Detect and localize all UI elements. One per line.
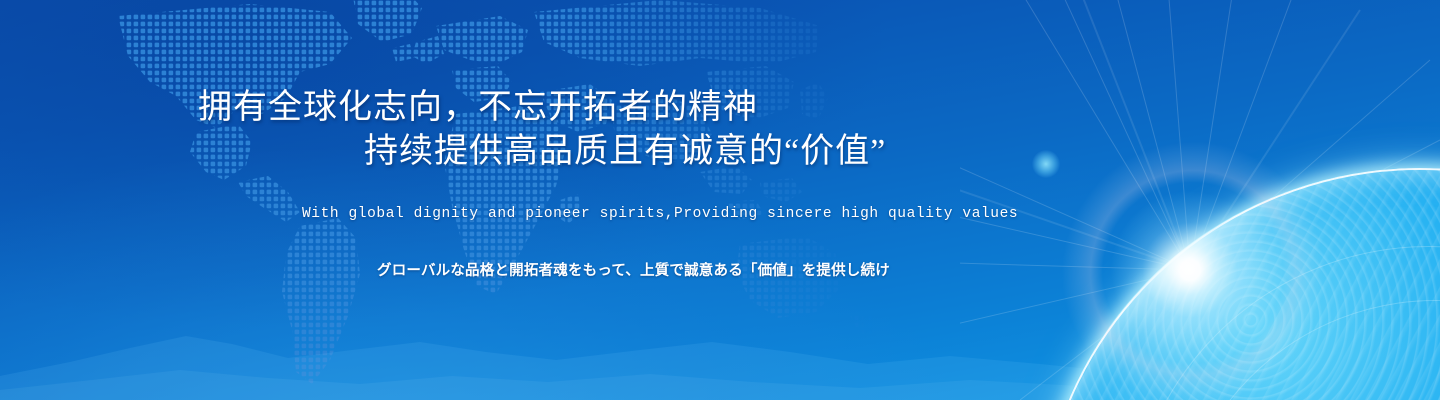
- hero-banner: 拥有全球化志向，不忘开拓者的精神 持续提供高品质且有诚意的“价值” With g…: [0, 0, 1440, 400]
- headline-line-1: 拥有全球化志向，不忘开拓者的精神: [198, 89, 758, 126]
- headline-line-2: 持续提供高品质且有诚意的“价值”: [198, 130, 958, 174]
- subtitle-english: With global dignity and pioneer spirits,…: [302, 206, 1018, 222]
- headline: 拥有全球化志向，不忘开拓者的精神 持续提供高品质且有诚意的“价值”: [198, 86, 958, 174]
- banner-copy: 拥有全球化志向，不忘开拓者的精神 持续提供高品质且有诚意的“价值” With g…: [0, 0, 1440, 400]
- subtitle-japanese: グローバルな品格と開拓者魂をもって、上質で誠意ある「価値」を提供し続け: [377, 259, 890, 280]
